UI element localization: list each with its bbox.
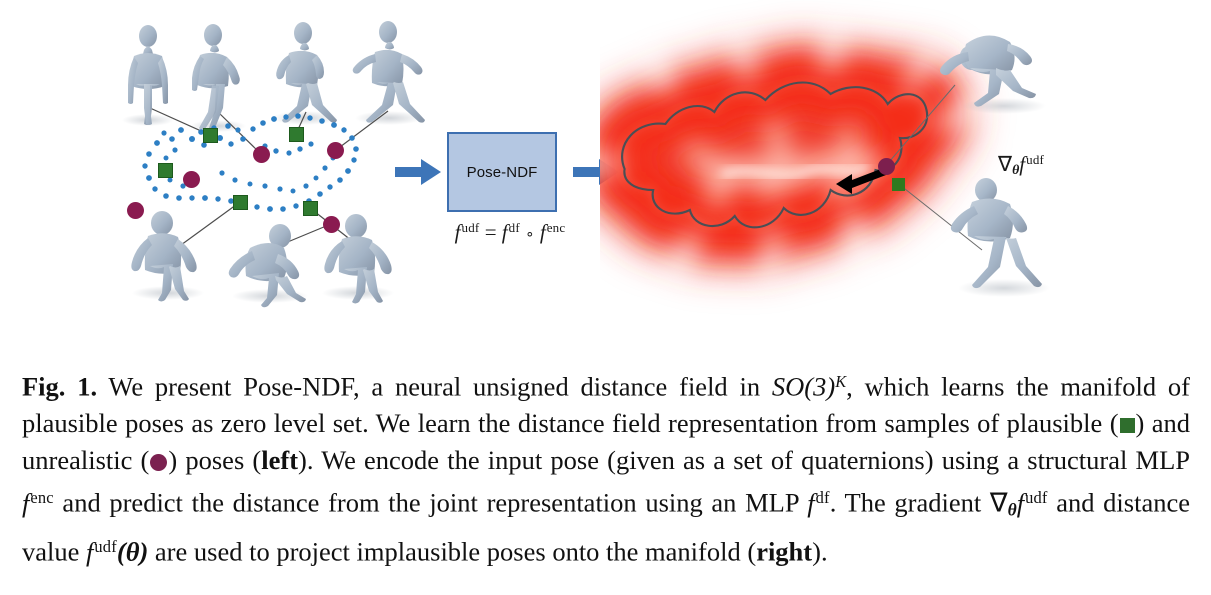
eq-rhs2-f: f — [540, 220, 547, 244]
caption-f-enc-sup: enc — [30, 488, 53, 507]
unrealistic-sample-marker — [323, 216, 340, 233]
unrealistic-sample-marker — [183, 171, 200, 188]
right-mesh-shadows — [958, 98, 1050, 297]
plausible-legend-square-icon — [1120, 418, 1135, 433]
eq-compose-operator: ∘ — [525, 227, 534, 243]
caption-text-1: We present Pose-NDF, a neural unsigned d… — [97, 371, 772, 401]
eq-rhs2-sup: enc — [547, 220, 566, 235]
pose-ndf-box-label: Pose-NDF — [467, 164, 538, 181]
arrow-into-model-icon — [395, 157, 443, 187]
caption-text-5: ). We encode the input pose (given as a … — [298, 445, 1190, 475]
caption-text-4: ) poses ( — [168, 445, 261, 475]
training-samples-panel — [100, 8, 430, 308]
eq-lhs-sup: udf — [461, 220, 479, 235]
caption-grad-f: f — [1017, 488, 1025, 518]
projected-pose-marker — [892, 178, 905, 191]
caption-grad-sup: udf — [1025, 488, 1048, 507]
figure-illustration: Pose-NDF fudf = fdf ∘ fenc — [0, 0, 1211, 320]
caption-dv-arg: (θ) — [117, 537, 148, 567]
plausible-sample-marker — [303, 201, 318, 216]
gradient-nabla: ∇ — [998, 152, 1012, 176]
implausible-pose-marker — [878, 158, 895, 175]
distance-field-graphics — [600, 0, 1211, 320]
mesh-stepping-pose — [353, 21, 425, 123]
eq-rhs1-f: f — [502, 220, 509, 244]
mesh-standing-pose — [128, 25, 168, 125]
model-block: Pose-NDF fudf = fdf ∘ fenc — [395, 120, 625, 280]
gradient-label: ∇θfudf — [998, 152, 1044, 178]
caption-dv-sup: udf — [94, 537, 117, 556]
caption-so3-exponent: K — [835, 372, 846, 391]
plausible-sample-marker — [203, 128, 218, 143]
plausible-sample-marker — [233, 195, 248, 210]
pose-ndf-box[interactable]: Pose-NDF — [447, 132, 557, 212]
caption-f-df-sup: df — [816, 488, 830, 507]
caption-grad-nabla: ∇ — [990, 488, 1008, 518]
caption-text-9: are used to project implausible poses on… — [148, 537, 756, 567]
mesh-lunging-pose — [276, 22, 337, 123]
caption-grad-theta: θ — [1008, 499, 1017, 519]
caption-bold-right: right — [756, 537, 812, 567]
mesh-walking-pose — [192, 24, 240, 130]
unsigned-distance-heat-field — [600, 26, 982, 278]
plausible-sample-marker — [289, 127, 304, 142]
gradient-udf-sup: udf — [1026, 152, 1044, 167]
unrealistic-sample-marker — [327, 142, 344, 159]
eq-rhs1-sup: df — [509, 220, 520, 235]
mesh-projected-pose — [951, 178, 1042, 288]
unrealistic-sample-marker — [253, 146, 270, 163]
caption-text-7: . The gradient — [830, 488, 990, 518]
figure-caption: Fig. 1. We present Pose-NDF, a neural un… — [22, 363, 1190, 571]
unrealistic-sample-marker — [127, 202, 144, 219]
caption-bold-left: left — [261, 445, 298, 475]
figure-number-label: Fig. 1. — [22, 371, 97, 401]
caption-f-df: f — [807, 488, 815, 518]
caption-text-10: ). — [812, 537, 827, 567]
caption-text-6: and predict the distance from the joint … — [54, 488, 808, 518]
distance-field-panel: ∇θfudf — [600, 0, 1211, 320]
unrealistic-legend-circle-icon — [150, 454, 167, 471]
manifold-dots — [142, 113, 358, 212]
eq-equals: = — [485, 220, 497, 244]
plausible-sample-marker — [158, 163, 173, 178]
composition-equation: fudf = fdf ∘ fenc — [395, 220, 625, 245]
caption-so3: SO(3) — [772, 371, 835, 401]
